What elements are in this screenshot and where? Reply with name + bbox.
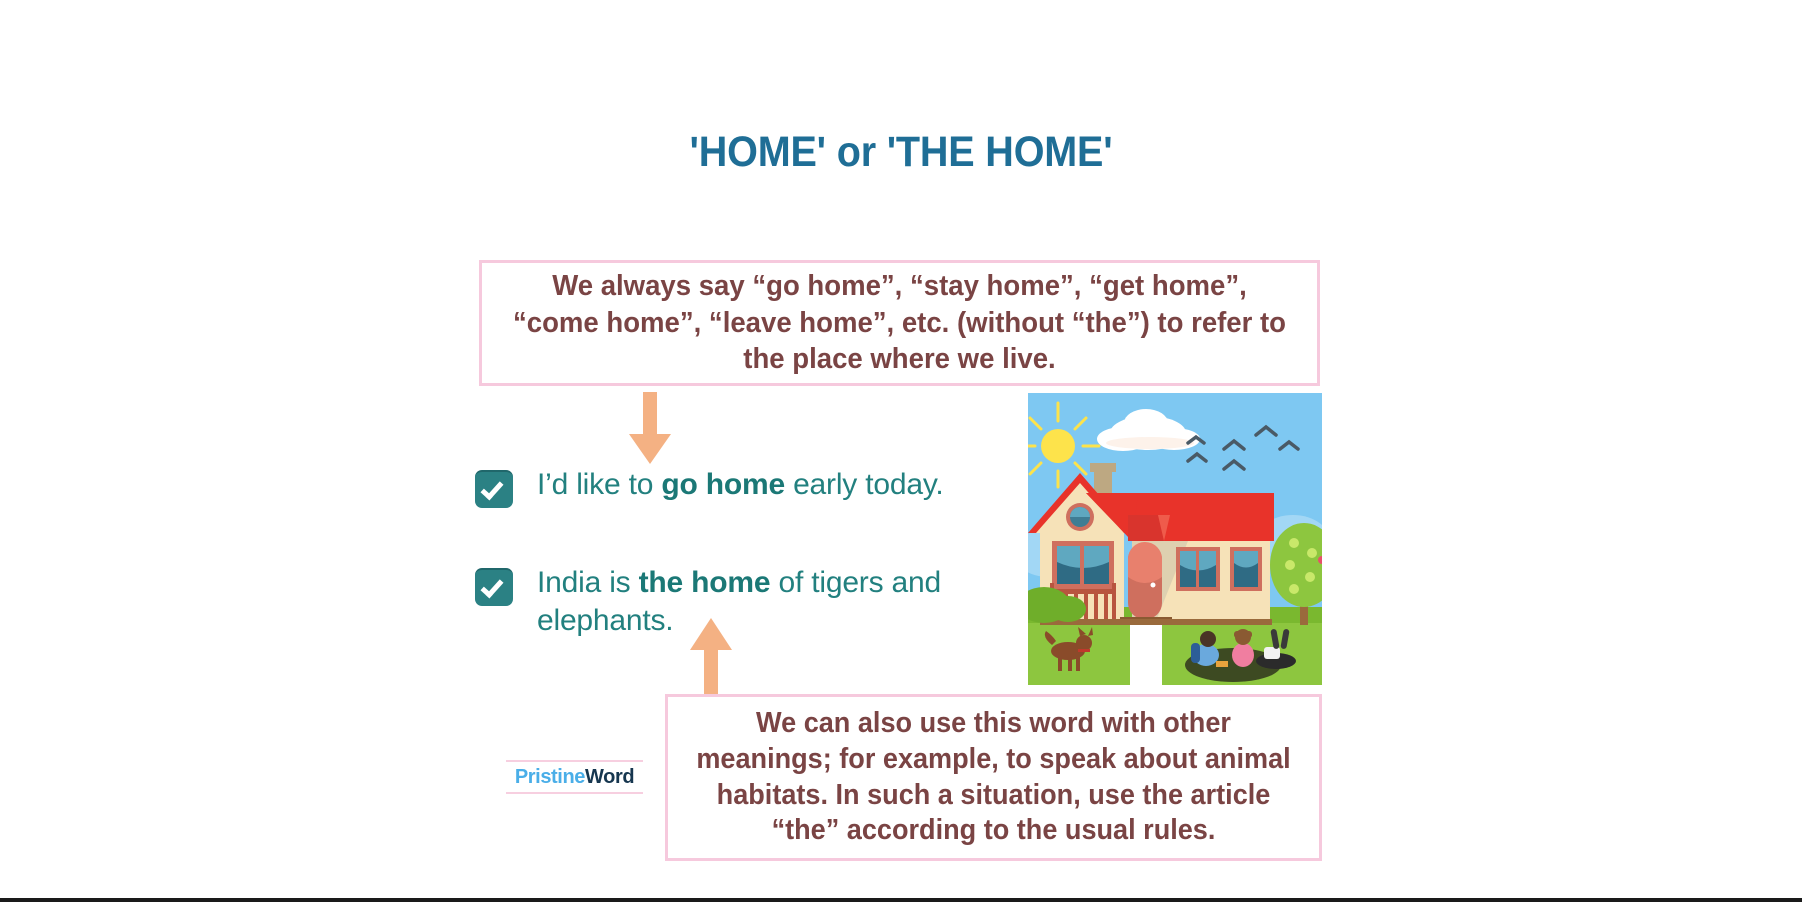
logo-part-word: Word [585, 766, 634, 788]
note-box-bottom-text: We can also use this word with other mea… [684, 706, 1302, 850]
example-1-after: early today. [785, 468, 944, 501]
example-row-1: I’d like to go home early today. [475, 466, 995, 508]
arrow-down-icon [629, 392, 671, 464]
slide-canvas: 'HOME' or 'THE HOME' We always say “go h… [0, 0, 1802, 902]
example-2-highlight: the home [639, 566, 771, 599]
house-scene-illustration [1028, 393, 1322, 685]
page-title: 'HOME' or 'THE HOME' [72, 128, 1730, 177]
example-2-before: India is [537, 566, 639, 599]
example-1-before: I’d like to [537, 468, 661, 501]
note-box-top: We always say “go home”, “stay home”, “g… [479, 260, 1320, 386]
checkbox-checked-icon[interactable] [475, 568, 513, 606]
example-text-1: I’d like to go home early today. [537, 466, 944, 504]
example-text-2: India is the home of tigers and elephant… [537, 564, 945, 641]
check-mark-icon [481, 575, 504, 599]
page-bottom-rule [0, 898, 1802, 902]
note-box-bottom: We can also use this word with other mea… [665, 694, 1322, 861]
check-mark-icon [481, 477, 504, 501]
brand-logo[interactable]: PristineWord [506, 760, 643, 794]
checkbox-checked-icon[interactable] [475, 470, 513, 508]
example-1-highlight: go home [661, 468, 785, 501]
note-box-top-text: We always say “go home”, “stay home”, “g… [503, 268, 1296, 378]
logo-part-pristine: Pristine [515, 766, 585, 788]
arrow-up-icon [690, 618, 732, 700]
